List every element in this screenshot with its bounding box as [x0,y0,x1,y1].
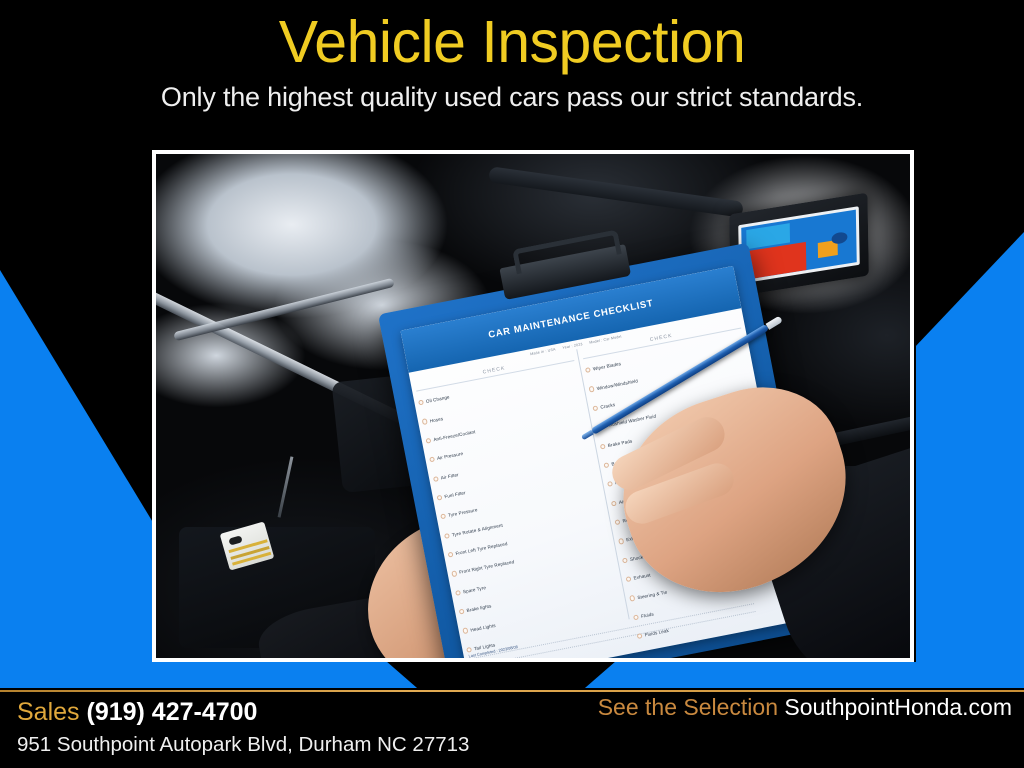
checklist-checkbox-circle-icon[interactable] [619,538,625,544]
checklist-checkbox-circle-icon[interactable] [611,500,617,506]
decorative-blue-wedge-right [916,232,1024,670]
hero-photo: CAR MAINTENANCE CHECKLIST Made in : USA … [156,154,910,658]
battery-label [738,207,860,285]
checklist-checkbox-circle-icon[interactable] [426,438,432,444]
checklist-checkbox-circle-icon[interactable] [630,595,636,601]
checklist-checkbox-circle-icon[interactable] [622,557,628,563]
checklist-item-label: Anti-Freeze/Coolant [433,429,476,442]
checklist-item-label: Hoses [430,416,444,423]
sales-label: Sales [17,698,80,726]
checklist-item-label: Air Filter [441,472,460,480]
checklist-checkbox-circle-icon[interactable] [466,647,472,653]
checklist-item-label: Spare Tyre [463,585,487,594]
checklist-checkbox-circle-icon[interactable] [633,614,639,620]
checklist-checkbox-circle-icon[interactable] [429,457,435,463]
checklist-item-label: Window/Windshield [597,378,639,391]
checklist-checkbox-circle-icon[interactable] [615,519,621,525]
checklist-item-label: Fluids [641,611,655,618]
footer-sales-line: Sales (919) 427-4700 [17,698,469,727]
footer: Sales (919) 427-4700 951 Southpoint Auto… [0,692,1024,768]
checklist-checkbox-circle-icon[interactable] [589,386,595,392]
checklist-checkbox-circle-icon[interactable] [433,476,439,482]
page-subtitle: Only the highest quality used cars pass … [0,73,1024,113]
checklist-item-label: Oil Change [426,395,450,404]
checklist-item-label: Tyre Pressure [448,508,478,519]
hero-photo-frame: CAR MAINTENANCE CHECKLIST Made in : USA … [152,150,914,662]
checklist-item-label: Fluids Leak [645,628,670,638]
decorative-blue-wedge-left [0,270,160,670]
checklist-checkbox-circle-icon[interactable] [459,609,465,615]
checklist-item-label: Tail Lights [474,642,496,651]
checklist-checkbox-circle-icon[interactable] [440,514,446,520]
checklist-checkbox-circle-icon[interactable] [452,571,458,577]
page-title: Vehicle Inspection [0,0,1024,73]
checklist-item-label: Steering & Tie [637,589,668,600]
checklist-item-label: Brake Pads [608,438,633,448]
checklist-checkbox-circle-icon[interactable] [626,576,632,582]
checklist-checkbox-circle-icon[interactable] [444,533,450,539]
header: Vehicle Inspection Only the highest qual… [0,0,1024,113]
checklist-checkbox-circle-icon[interactable] [455,590,461,596]
checklist-item-label: Wiper Blades [593,361,622,371]
checklist-item-label: Head Lights [470,622,496,632]
checklist-checkbox-circle-icon[interactable] [604,462,610,468]
checklist-checkbox-circle-icon[interactable] [585,367,591,373]
checklist-item-label: Cracks [600,402,616,410]
checklist-checkbox-circle-icon[interactable] [600,443,606,449]
checklist-checkbox-circle-icon[interactable] [463,628,469,634]
checklist-checkbox-circle-icon[interactable] [418,400,424,406]
checklist-checkbox-circle-icon[interactable] [608,481,614,487]
dealer-address: 951 Southpoint Autopark Blvd, Durham NC … [17,727,469,757]
checklist-item-label: Brake lights [467,603,493,613]
advertisement-banner: Vehicle Inspection Only the highest qual… [0,0,1024,768]
checklist-checkbox-circle-icon[interactable] [448,552,454,558]
footer-contact-block: Sales (919) 427-4700 951 Southpoint Auto… [17,698,469,757]
checklist-checkbox-circle-icon[interactable] [422,419,428,425]
sales-phone[interactable]: (919) 427-4700 [87,698,258,726]
checklist-checkbox-circle-icon[interactable] [593,405,599,411]
footer-website-block: See the Selection SouthpointHonda.com [598,694,1012,721]
checklist-item-label: Fuel Filter [444,490,466,499]
checklist-checkbox-circle-icon[interactable] [437,495,443,501]
checklist-checkbox-circle-icon[interactable] [637,633,643,639]
website-link[interactable]: SouthpointHonda.com [784,694,1012,720]
see-the-selection-label: See the Selection [598,694,778,720]
checklist-item-label: Exhaust [634,572,652,580]
decorative-band-notch [386,661,616,689]
checklist-item-label: Air Pressure [437,451,464,461]
